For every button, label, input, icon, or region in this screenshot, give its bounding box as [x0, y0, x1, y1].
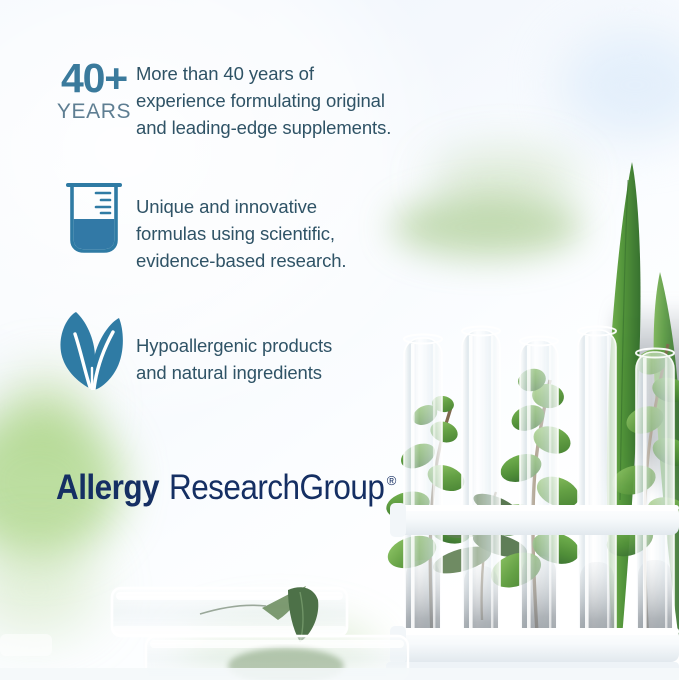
feature-line: and leading-edge supplements.: [136, 114, 442, 141]
feature-line: evidence-based research.: [136, 247, 442, 274]
brand-logo: AllergyResearchGroup®: [56, 470, 418, 505]
stat-word: YEARS: [57, 101, 131, 122]
feature-list: 40+ YEARS More than 40 years of experien…: [52, 56, 442, 390]
overlay-content: 40+ YEARS More than 40 years of experien…: [0, 0, 679, 680]
feature-text-hypoallergenic: Hypoallergenic products and natural ingr…: [136, 308, 442, 386]
brand-feature-panel: 40+ YEARS More than 40 years of experien…: [0, 0, 679, 680]
feature-line: More than 40 years of: [136, 60, 442, 87]
feature-line: formulas using scientific,: [136, 220, 442, 247]
feature-text-years: More than 40 years of experience formula…: [136, 56, 442, 141]
logo-word-research-group: ResearchGroup: [169, 470, 384, 505]
leaves-icon-wrap: [52, 308, 136, 390]
beaker-icon-wrap: [52, 179, 136, 255]
stat-number: 40+: [57, 58, 131, 98]
stat-badge: 40+ YEARS: [57, 58, 131, 122]
feature-item-years: 40+ YEARS More than 40 years of experien…: [52, 56, 442, 141]
feature-line: and natural ingredients: [136, 359, 442, 386]
feature-line: Hypoallergenic products: [136, 332, 442, 359]
beaker-icon: [63, 181, 125, 255]
logo-word-allergy: Allergy: [56, 470, 159, 505]
feature-item-hypoallergenic: Hypoallergenic products and natural ingr…: [52, 308, 442, 390]
feature-line: Unique and innovative: [136, 193, 442, 220]
feature-line: experience formulating original: [136, 87, 442, 114]
years-40-plus-badge-icon: 40+ YEARS: [52, 56, 136, 122]
feature-item-formulas: Unique and innovative formulas using sci…: [52, 179, 442, 274]
leaves-icon: [59, 310, 129, 390]
registered-trademark-icon: ®: [387, 473, 397, 488]
feature-text-formulas: Unique and innovative formulas using sci…: [136, 179, 442, 274]
